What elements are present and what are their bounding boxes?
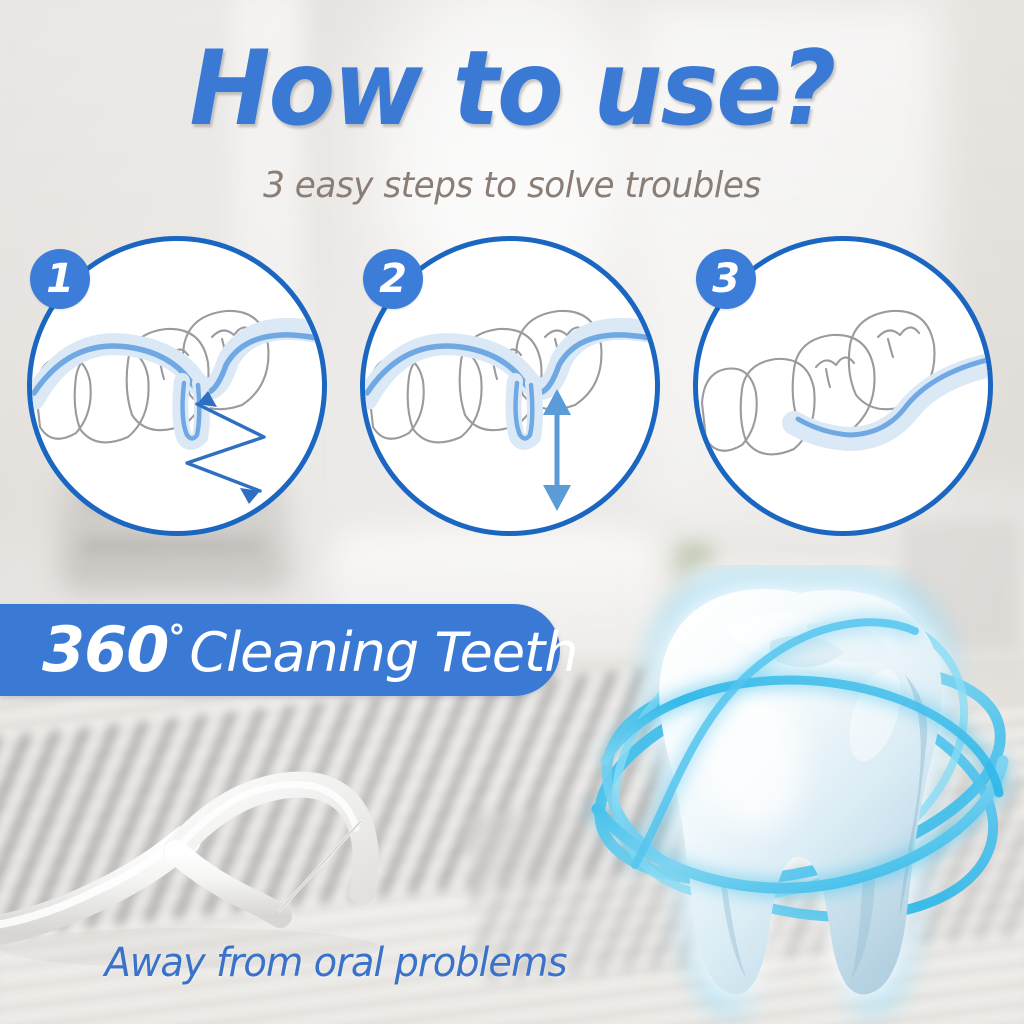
step-badge-2: 2 — [363, 249, 423, 309]
tagline: Away from oral problems — [105, 940, 567, 986]
floss-pick-illustration — [0, 700, 420, 980]
step-circle-2: 2 — [360, 236, 660, 536]
banner-degree-symbol: ° — [168, 618, 185, 658]
step-circle-3: 3 — [693, 236, 993, 536]
floss-pick-product — [0, 700, 420, 980]
tooth-with-orbits — [575, 565, 1024, 1024]
banner-text: 360 ° Cleaning Teeth — [0, 619, 578, 681]
vertical-double-arrow — [543, 389, 571, 511]
step-circle-1: 1 — [27, 236, 327, 536]
tooth-graphic — [575, 565, 1024, 1024]
step-badge-3: 3 — [696, 249, 756, 309]
step-badge-1: 1 — [30, 249, 90, 309]
banner-number: 360 — [42, 619, 168, 681]
banner-360-cleaning: 360 ° Cleaning Teeth — [0, 604, 560, 696]
infographic-canvas: How to use? 3 easy steps to solve troubl… — [0, 0, 1024, 1024]
banner-label: Cleaning Teeth — [189, 626, 577, 680]
